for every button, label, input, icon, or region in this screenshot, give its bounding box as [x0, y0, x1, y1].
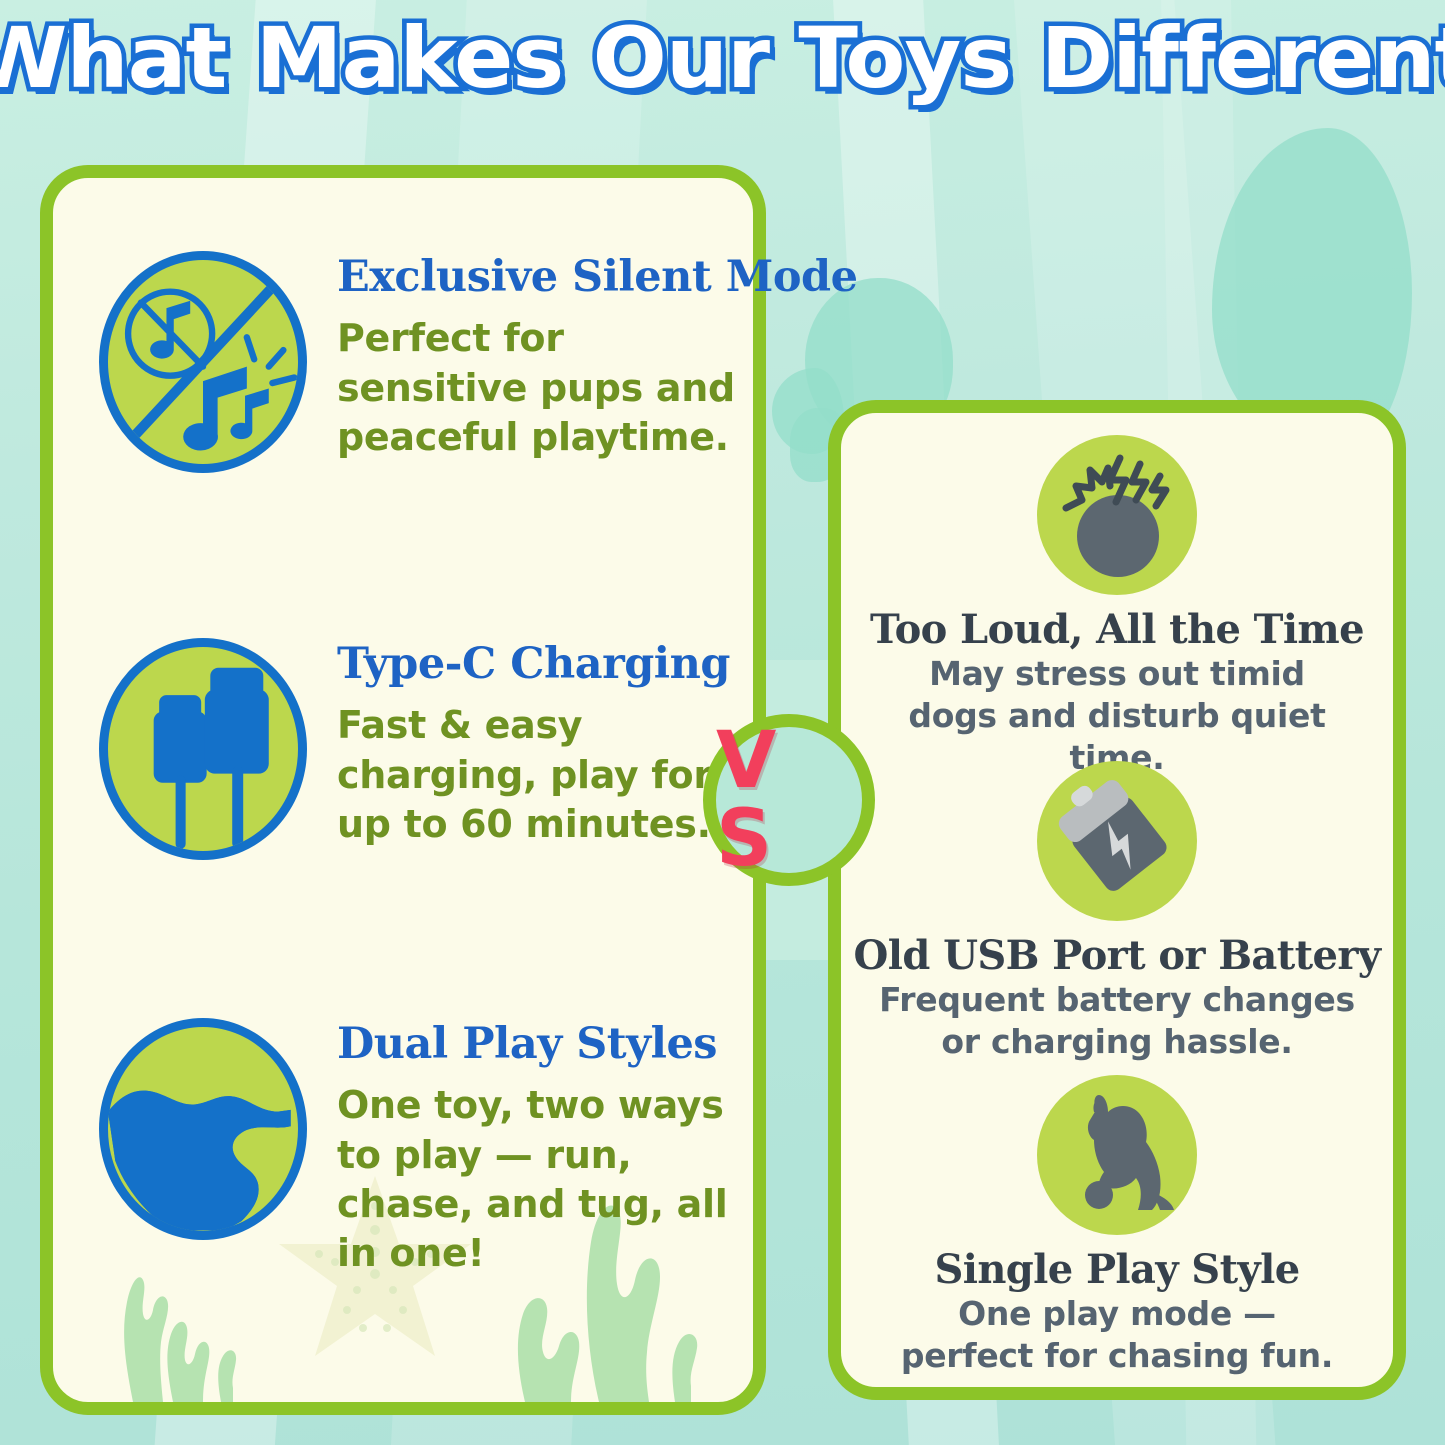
- infographic-canvas: Exclusive Silent Mode Perfect for sensit…: [0, 0, 1445, 1445]
- cons-item-3-body: One play mode — perfect for chasing fun.: [887, 1293, 1347, 1377]
- cons-item-3-heading: Single Play Style: [841, 1249, 1393, 1291]
- cons-card: Too Loud, All the Time May stress out ti…: [828, 400, 1406, 1400]
- cons-item-2-heading: Old USB Port or Battery: [841, 935, 1393, 977]
- cons-item-2-body: Frequent battery changes or charging has…: [877, 979, 1357, 1063]
- pros-item-3-body: One toy, two ways to play — run, chase, …: [337, 1081, 739, 1279]
- pros-card: Exclusive Silent Mode Perfect for sensit…: [40, 165, 766, 1415]
- usb-type-c-cable-icon: [99, 638, 307, 860]
- vs-label: V S: [716, 722, 862, 878]
- globe-icon: [99, 1018, 307, 1240]
- pros-item-1: Exclusive Silent Mode Perfect for sensit…: [99, 251, 739, 473]
- battery-icon: [1037, 761, 1197, 921]
- cons-item-1-heading: Too Loud, All the Time: [841, 609, 1393, 651]
- sitting-dog-with-ball-icon: [1037, 1075, 1197, 1235]
- pros-item-1-text: Exclusive Silent Mode Perfect for sensit…: [337, 251, 857, 462]
- cons-item-3: Single Play Style One play mode — perfec…: [841, 1075, 1393, 1377]
- pros-item-3-text: Dual Play Styles One toy, two ways to pl…: [337, 1018, 739, 1279]
- cons-item-2: Old USB Port or Battery Frequent battery…: [841, 761, 1393, 1063]
- page-title: What Makes Our Toys Different: [0, 16, 1445, 100]
- no-sound-music-note-icon: [99, 251, 307, 473]
- pros-item-2-body: Fast & easy charging, play for up to 60 …: [337, 701, 739, 849]
- pros-item-2-heading: Type-C Charging: [337, 642, 739, 687]
- pros-item-1-heading: Exclusive Silent Mode: [337, 255, 857, 300]
- pros-item-3-heading: Dual Play Styles: [337, 1022, 739, 1067]
- pros-item-2: Type-C Charging Fast & easy charging, pl…: [99, 638, 739, 860]
- pros-item-3: Dual Play Styles One toy, two ways to pl…: [99, 1018, 739, 1279]
- vs-badge: V S: [703, 714, 875, 886]
- loud-noise-ball-icon: [1037, 435, 1197, 595]
- pros-item-2-text: Type-C Charging Fast & easy charging, pl…: [337, 638, 739, 849]
- pros-item-1-body: Perfect for sensitive pups and peaceful …: [337, 314, 757, 462]
- cons-item-1: Too Loud, All the Time May stress out ti…: [841, 435, 1393, 780]
